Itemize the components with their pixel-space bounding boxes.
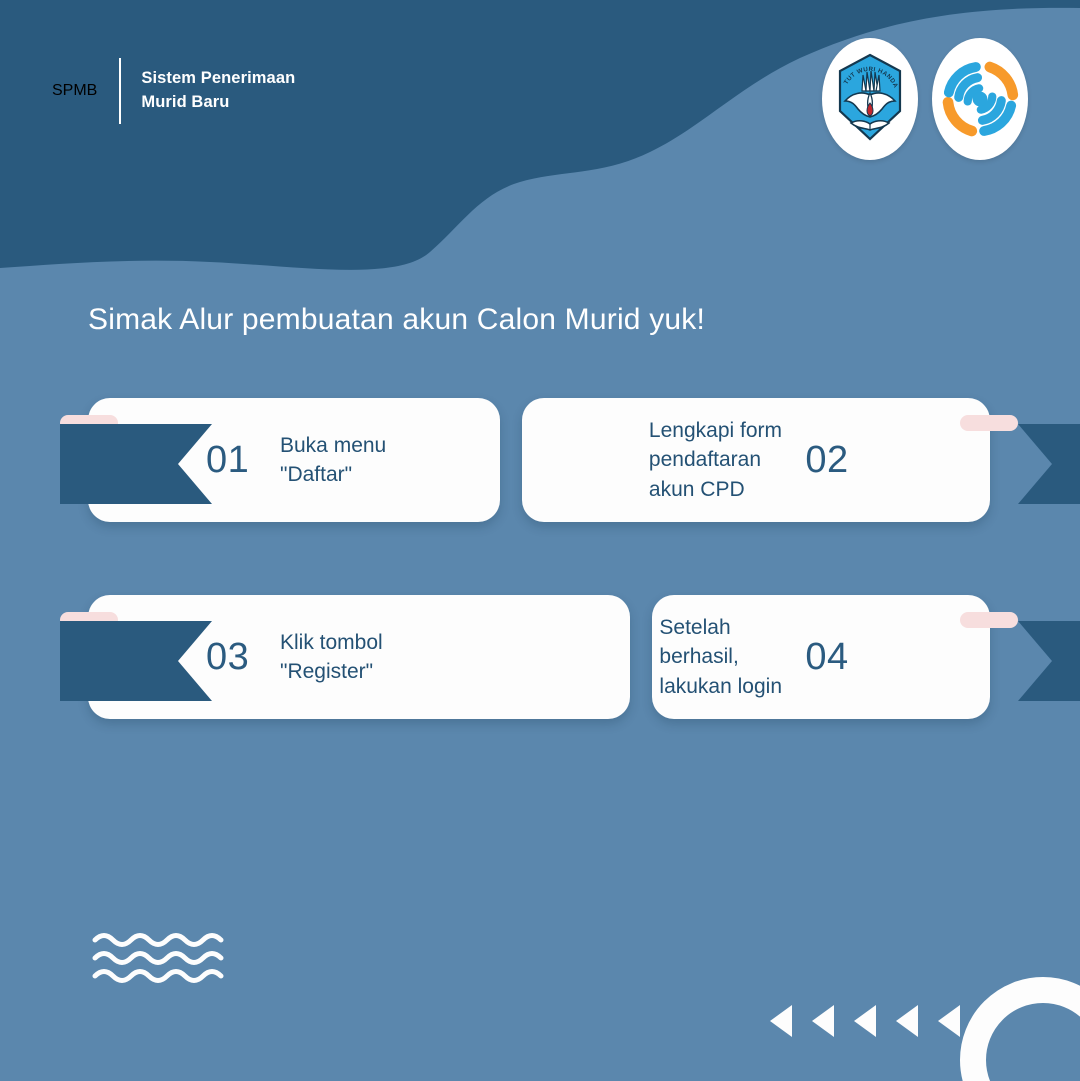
step-number: 04 — [782, 638, 872, 676]
step-number: 03 — [206, 638, 280, 676]
logo-group: TUT WURI HANDAYANI — [822, 38, 1028, 160]
ribbon-shape-right — [1018, 621, 1080, 701]
step-card-03[interactable]: 03 Klik tombol "Register" — [88, 595, 630, 719]
step-number: 01 — [206, 441, 280, 479]
brand-subtitle: Sistem Penerimaan Murid Baru — [141, 67, 295, 115]
step-content: 03 Klik tombol "Register" — [88, 595, 630, 719]
step-card-02[interactable]: Lengkapi form pendaftaran akun CPD 02 — [522, 398, 990, 522]
step-content: Lengkapi form pendaftaran akun CPD 02 — [522, 398, 990, 522]
spmb-swirl-icon — [939, 58, 1021, 140]
step-label: Setelah berhasil, lakukan login — [659, 613, 782, 701]
tut-wuri-handayani-icon: TUT WURI HANDAYANI — [832, 51, 908, 147]
triangle-left-icon — [770, 1005, 792, 1037]
wave-lines-decoration — [92, 930, 238, 986]
step-label: Buka menu "Daftar" — [280, 431, 386, 490]
spmb-swirl-logo — [932, 38, 1028, 160]
triangle-left-icon — [896, 1005, 918, 1037]
brand-acronym: SPMB — [52, 82, 97, 100]
page-title: Simak Alur pembuatan akun Calon Murid yu… — [88, 303, 705, 337]
brand-lockup: SPMB Sistem Penerimaan Murid Baru — [52, 58, 295, 124]
corner-ring-decoration — [948, 965, 1080, 1081]
step-label: Klik tombol "Register" — [280, 628, 383, 687]
arrow-triangles-decoration — [770, 1005, 960, 1037]
step-card-01[interactable]: 01 Buka menu "Daftar" — [88, 398, 500, 522]
step-content: Setelah berhasil, lakukan login 04 — [652, 595, 990, 719]
step-card-04[interactable]: Setelah berhasil, lakukan login 04 — [652, 595, 990, 719]
step-number: 02 — [782, 441, 872, 479]
infographic-canvas: SPMB Sistem Penerimaan Murid Baru TUT WU… — [0, 0, 1080, 1081]
step-label: Lengkapi form pendaftaran akun CPD — [649, 416, 782, 504]
ribbon-shape-right — [1018, 424, 1080, 504]
tut-wuri-handayani-logo: TUT WURI HANDAYANI — [822, 38, 918, 160]
step-content: 01 Buka menu "Daftar" — [88, 398, 500, 522]
brand-divider — [119, 58, 121, 124]
triangle-left-icon — [854, 1005, 876, 1037]
triangle-left-icon — [812, 1005, 834, 1037]
